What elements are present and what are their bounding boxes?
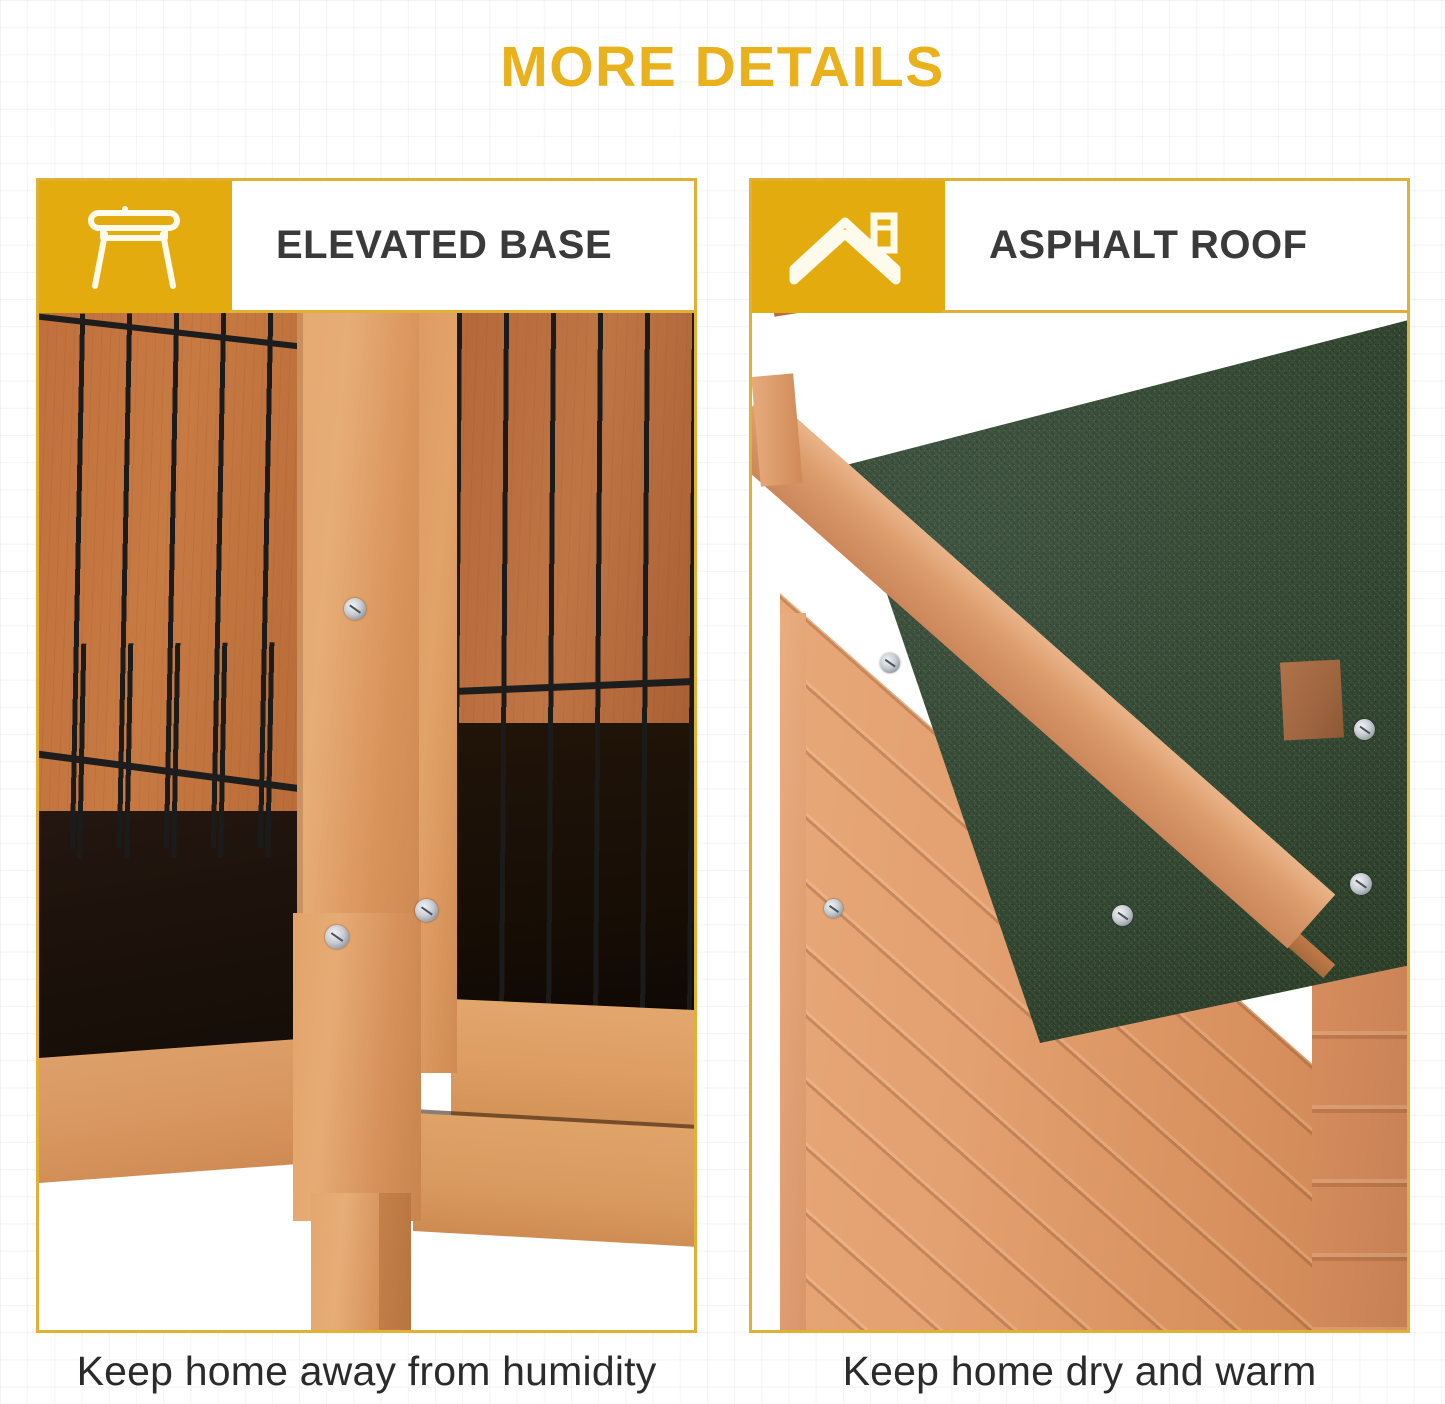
roof-eave-corner-block [1280, 659, 1344, 740]
screw-side-wall [1350, 873, 1372, 895]
caption-elevated-base: Keep home away from humidity [36, 1348, 697, 1395]
screw-roof-front-b [1112, 905, 1133, 926]
page-header: MORE DETAILS [0, 34, 1445, 100]
caption-asphalt-roof: Keep home dry and warm [749, 1348, 1410, 1395]
page-title: MORE DETAILS [0, 34, 1445, 100]
base-rail-right [451, 999, 694, 1130]
badge-label-asphalt-roof: ASPHALT ROOF [989, 223, 1308, 268]
photo-elevated-base [39, 313, 694, 1330]
bottom-rail-right [413, 1113, 694, 1247]
wire-mesh-right [457, 313, 694, 1038]
badge-label-box-asphalt-roof: ASPHALT ROOF [945, 178, 1410, 313]
badge-elevated-base: ELEVATED BASE [36, 178, 697, 313]
badge-underline [229, 310, 697, 313]
corner-post-edge [297, 313, 303, 925]
roof-chimney-icon [749, 178, 945, 313]
screw-eave [1354, 719, 1375, 740]
photo-asphalt-roof [752, 313, 1407, 1330]
screw-lower-left [325, 925, 349, 949]
screw-wall-left [824, 899, 843, 918]
feature-panel-asphalt-roof: ASPHALT ROOF [749, 178, 1410, 1333]
wire-mesh-left-lower [39, 642, 316, 859]
panel-captions: Keep home away from humidity Keep home d… [36, 1348, 1411, 1395]
badge-label-elevated-base: ELEVATED BASE [276, 223, 612, 268]
badge-asphalt-roof: ASPHALT ROOF [749, 178, 1410, 313]
screw-upper [344, 598, 366, 620]
corner-trim-vertical [780, 613, 806, 1330]
corner-post-lower [293, 913, 421, 1221]
feature-panel-elevated-base: ELEVATED BASE [36, 178, 697, 1333]
feature-panels: ELEVATED BASE [36, 178, 1411, 1333]
screw-lower-right [415, 899, 438, 922]
table-legs-icon [36, 178, 232, 313]
badge-label-box-elevated-base: ELEVATED BASE [232, 178, 697, 313]
badge-underline [942, 310, 1410, 313]
screw-roof-front-a [880, 653, 900, 673]
elevated-leg-side-face [379, 1193, 411, 1330]
